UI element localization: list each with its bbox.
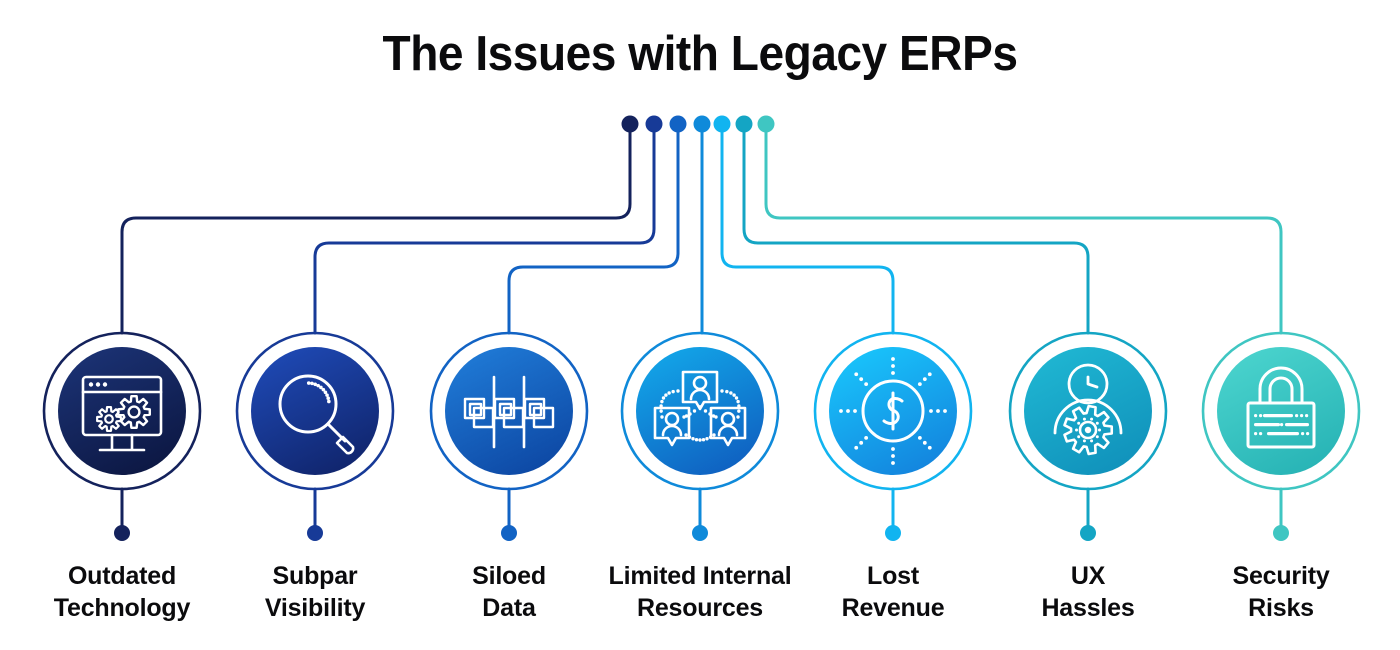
bottom-dot-lost-revenue xyxy=(885,525,901,541)
top-dot-security-risks xyxy=(758,116,775,133)
disc-security-risks xyxy=(1217,347,1345,475)
disc-outdated-technology xyxy=(58,347,186,475)
disc-subpar-visibility xyxy=(251,347,379,475)
icon-circle-subpar-visibility[interactable] xyxy=(237,333,393,489)
connector-outdated-technology xyxy=(122,126,630,333)
bottom-dot-outdated-technology xyxy=(114,525,130,541)
icon-circle-siloed-data[interactable] xyxy=(431,333,587,489)
icon-circle-lost-revenue[interactable] xyxy=(815,333,971,489)
label-line-1: Security xyxy=(1156,560,1400,592)
top-dot-outdated-technology xyxy=(622,116,639,133)
label-security-risks: SecurityRisks xyxy=(1156,560,1400,624)
bottom-dot-subpar-visibility xyxy=(307,525,323,541)
bottom-dot-limited-internal-resources xyxy=(692,525,708,541)
icon-circle-security-risks[interactable] xyxy=(1203,333,1359,489)
connector-lost-revenue xyxy=(722,126,893,333)
bottom-dot-siloed-data xyxy=(501,525,517,541)
connector-security-risks xyxy=(766,126,1281,333)
icon-circle-limited-internal-resources[interactable] xyxy=(622,333,778,489)
icon-circle-ux-hassles[interactable] xyxy=(1010,333,1166,489)
top-dot-siloed-data xyxy=(670,116,687,133)
infographic-root: The Issues with Legacy ERPs OutdatedTech… xyxy=(0,0,1400,650)
icon-circle-outdated-technology[interactable] xyxy=(44,333,200,489)
top-dot-ux-hassles xyxy=(736,116,753,133)
label-line-2: Risks xyxy=(1156,592,1400,624)
bottom-dot-security-risks xyxy=(1273,525,1289,541)
top-dot-subpar-visibility xyxy=(646,116,663,133)
connector-ux-hassles xyxy=(744,126,1088,333)
dollar-rays-icon xyxy=(839,357,947,465)
icon-circles xyxy=(44,333,1359,489)
bottom-stems xyxy=(114,489,1289,541)
top-dot-lost-revenue xyxy=(714,116,731,133)
connector-diagram xyxy=(0,0,1400,650)
connector-lines xyxy=(122,126,1281,333)
top-dot-limited-internal-resources xyxy=(694,116,711,133)
top-dot-row xyxy=(622,116,775,133)
connector-subpar-visibility xyxy=(315,126,654,333)
bottom-dot-ux-hassles xyxy=(1080,525,1096,541)
